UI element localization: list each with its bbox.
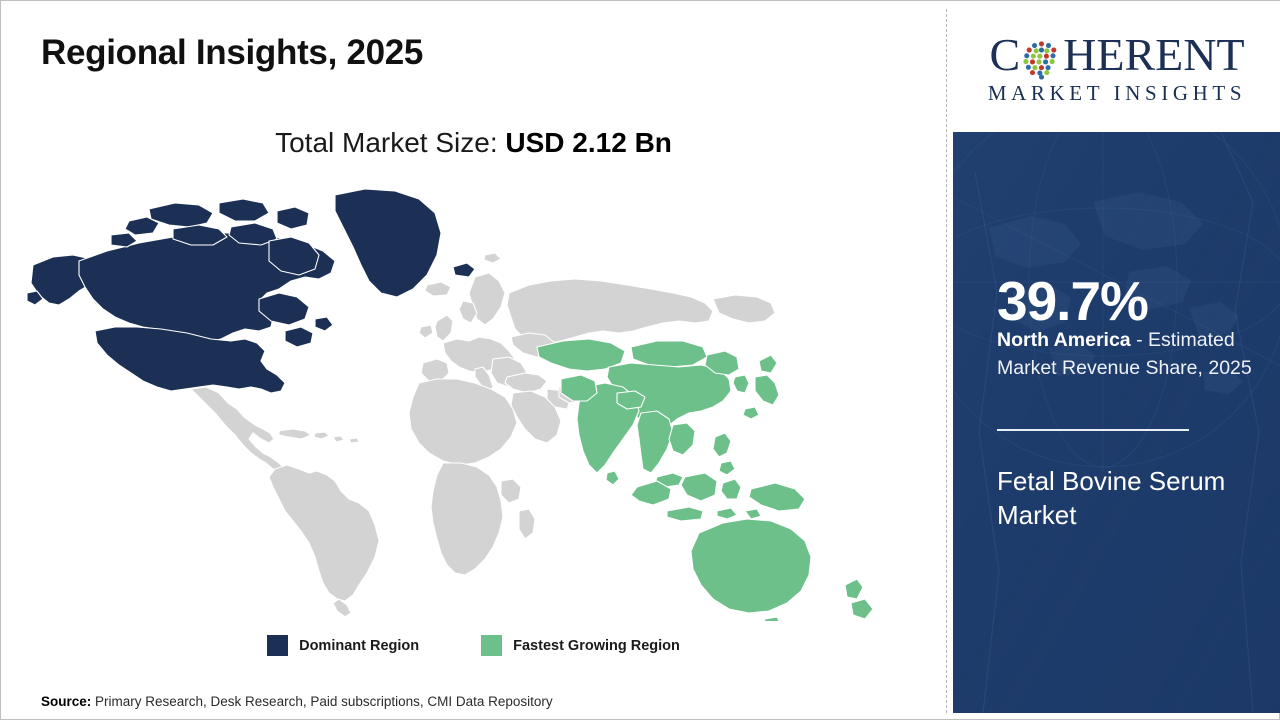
map-region-dominant [27,189,475,393]
map-legend: Dominant Region Fastest Growing Region [1,635,946,656]
logo-word-after: HERENT [1063,32,1244,78]
stat-value: 39.7% [997,274,1148,329]
dotted-globe-icon [1021,39,1062,80]
market-name: Fetal Bovine Serum Market [997,464,1257,533]
source-note: Source: Primary Research, Desk Research,… [41,694,553,709]
world-map [23,181,923,621]
map-region-fastest-growing [537,339,873,621]
legend-label-dominant: Dominant Region [299,638,419,654]
right-sidebar: C [953,1,1280,721]
vertical-divider [946,9,947,713]
legend-item-dominant: Dominant Region [267,635,419,656]
legend-label-fastest-growing: Fastest Growing Region [513,638,680,654]
source-text: Primary Research, Desk Research, Paid su… [91,694,552,709]
square-swatch-icon [481,635,502,656]
panel-content: 39.7% North America - Estimated Market R… [997,132,1247,713]
stat-panel: 39.7% North America - Estimated Market R… [953,132,1280,713]
logo-subtitle: MARKET INSIGHTS [988,81,1246,106]
square-swatch-icon [267,635,288,656]
market-size-value: USD 2.12 Bn [505,127,672,158]
legend-item-fastest-growing: Fastest Growing Region [481,635,680,656]
infographic-frame: Regional Insights, 2025 Total Market Siz… [0,0,1280,720]
source-prefix: Source: [41,694,91,709]
logo-word-before: C [989,32,1020,78]
page-title: Regional Insights, 2025 [41,33,423,73]
world-map-svg [23,181,923,621]
stat-region-name: North America [997,329,1131,351]
main-content-area: Regional Insights, 2025 Total Market Siz… [1,1,946,721]
total-market-size: Total Market Size: USD 2.12 Bn [1,127,946,159]
panel-divider-rule [997,429,1189,431]
market-size-label: Total Market Size: [275,127,505,158]
stat-description: North America - Estimated Market Revenue… [997,327,1262,382]
brand-logo: C [953,1,1280,132]
logo-wordmark: C [989,27,1244,83]
